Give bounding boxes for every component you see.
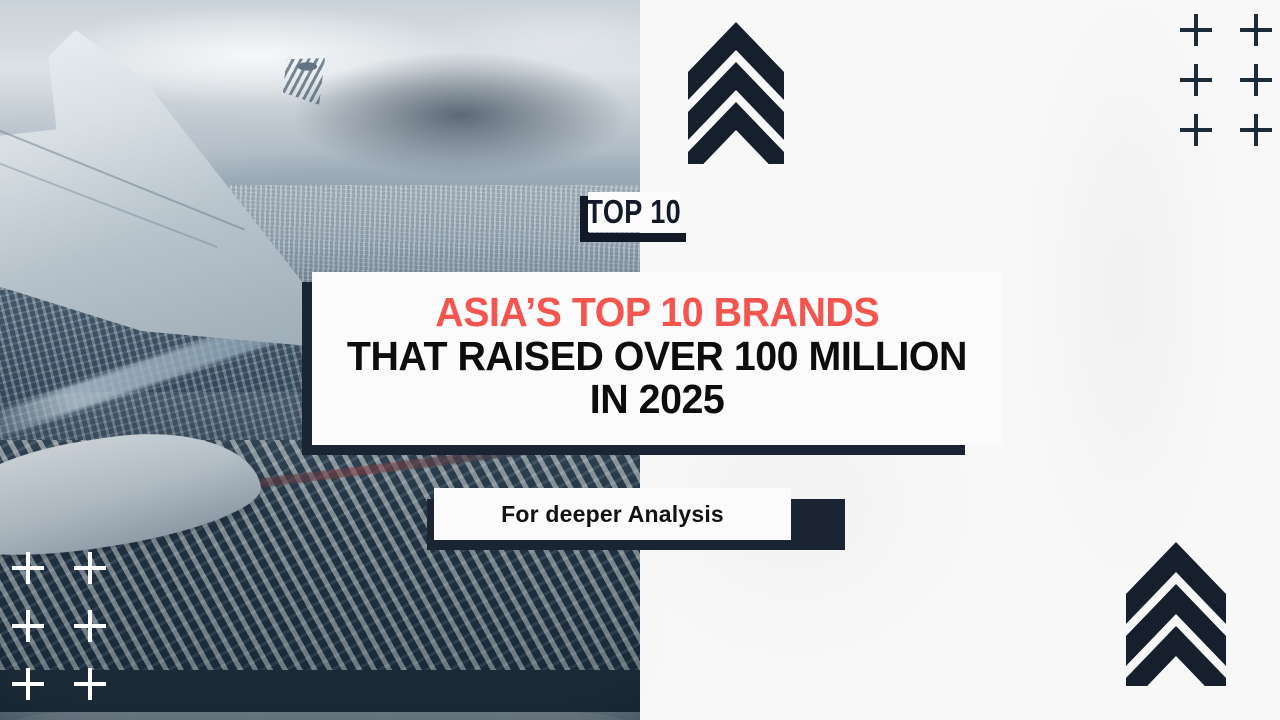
plus-grid-bottom-left — [12, 552, 106, 700]
poster-canvas: TOP 10 ASIA’S TOP 10 BRANDS THAT RAISED … — [0, 0, 1280, 720]
title-line-3: IN 2025 — [590, 379, 725, 421]
plus-icon — [1180, 64, 1212, 96]
plus-icon — [1240, 14, 1272, 46]
title-card: ASIA’S TOP 10 BRANDS THAT RAISED OVER 10… — [312, 272, 1002, 445]
plus-grid-top-right — [1180, 14, 1272, 146]
plus-icon — [12, 668, 44, 700]
plus-icon — [1180, 14, 1212, 46]
top-10-badge: TOP 10 — [580, 196, 686, 242]
plus-icon — [12, 552, 44, 584]
title-line-2: THAT RAISED OVER 100 MILLION — [347, 336, 967, 378]
plus-icon — [74, 552, 106, 584]
plus-icon — [74, 610, 106, 642]
triple-chevron-up-top — [688, 14, 784, 164]
chevron-up-icon — [688, 14, 784, 164]
title-line-1: ASIA’S TOP 10 BRANDS — [435, 292, 879, 334]
plus-icon — [1240, 64, 1272, 96]
plus-icon — [1240, 114, 1272, 146]
plus-icon — [74, 668, 106, 700]
chevron-up-icon — [1126, 536, 1226, 686]
plus-icon — [1180, 114, 1212, 146]
subtitle-banner: For deeper Analysis — [434, 488, 791, 540]
plus-icon — [12, 610, 44, 642]
badge-plate: TOP 10 — [588, 192, 680, 232]
badge-label: TOP 10 — [587, 193, 682, 231]
subtitle-label: For deeper Analysis — [501, 501, 724, 528]
triple-chevron-up-bottom — [1126, 536, 1226, 686]
airplane-window-frame — [0, 712, 640, 720]
